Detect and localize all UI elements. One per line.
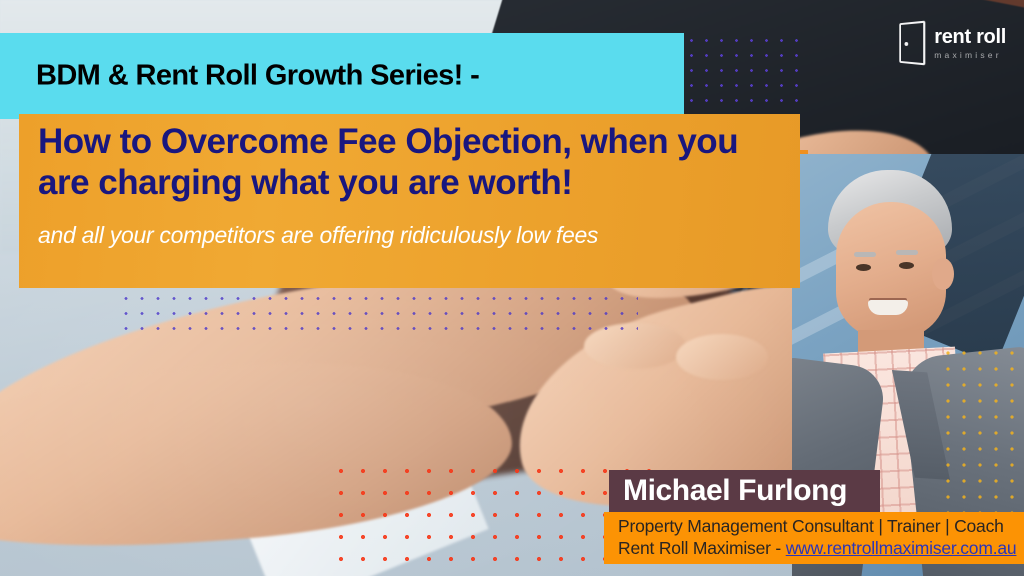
presenter-name: Michael Furlong — [623, 474, 847, 508]
kicker-text: BDM & Rent Roll Growth Series! - — [36, 60, 479, 93]
brand-logo-text: rent roll maximiser — [934, 27, 1006, 60]
presenter-name-badge: Michael Furlong — [609, 470, 880, 512]
brand-logo[interactable]: rent roll maximiser — [898, 22, 1006, 64]
brand-tagline: maximiser — [934, 51, 1006, 60]
portrait-face — [836, 202, 946, 338]
subheadline-text: and all your competitors are offering ri… — [38, 222, 798, 249]
presenter-company-line: Rent Roll Maximiser - www.rentrollmaximi… — [618, 538, 1016, 559]
portrait-ear — [932, 258, 954, 290]
presenter-role: Property Management Consultant | Trainer… — [618, 516, 1004, 537]
portrait-mouth — [868, 300, 908, 315]
promo-banner-stage: BDM & Rent Roll Growth Series! - How to … — [0, 0, 1024, 576]
brand-name: rent roll — [934, 27, 1006, 47]
kicker-banner: BDM & Rent Roll Growth Series! - — [0, 33, 684, 119]
presenter-website-link[interactable]: www.rentrollmaximiser.com.au — [786, 538, 1017, 558]
portrait-eye-right — [899, 262, 914, 269]
presenter-info-bar: Property Management Consultant | Trainer… — [604, 512, 1024, 564]
portrait-eye-left — [856, 264, 871, 271]
portrait-brow-right — [896, 250, 918, 255]
portrait-brow-left — [854, 252, 876, 257]
headline-text: How to Overcome Fee Objection, when you … — [38, 122, 780, 204]
presenter-company: Rent Roll Maximiser - — [618, 538, 786, 558]
headline-block: How to Overcome Fee Objection, when you … — [19, 114, 800, 288]
door-icon — [900, 21, 926, 66]
